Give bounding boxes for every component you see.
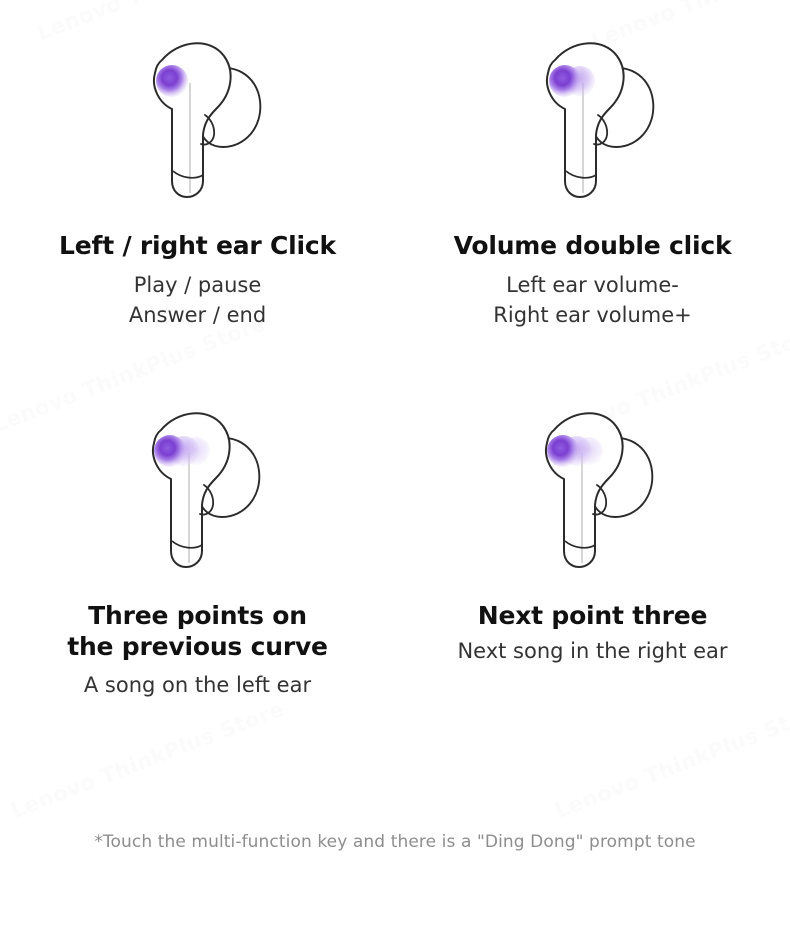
card-text-block: Volume double click Left ear volume- Rig… (395, 230, 790, 331)
touch-controls-page: Lenovo ThinkPlus Store Lenovo ThinkPlus … (0, 0, 790, 938)
earbud-icon (520, 23, 670, 208)
card-subtitle: A song on the left ear (0, 671, 395, 701)
earbud-single-tap-illustration (119, 0, 277, 230)
control-card-volume-double-click: Volume double click Left ear volume- Rig… (395, 0, 790, 370)
card-subtitle-line: Right ear volume+ (395, 301, 790, 331)
tap-dot (154, 435, 186, 467)
earbud-icon (519, 393, 669, 578)
card-subtitle: Left ear volume- Right ear volume+ (395, 271, 790, 331)
card-text-block: Three points on the previous curve A son… (0, 600, 395, 700)
card-title: Three points on the previous curve (0, 600, 395, 663)
card-subtitle: Next song in the right ear (395, 637, 790, 667)
earbud-triple-tap-illustration (517, 370, 669, 600)
card-title: Volume double click (395, 230, 790, 261)
card-subtitle: Play / pause Answer / end (0, 271, 395, 331)
earbud-icon (126, 393, 276, 578)
earbud-icon (127, 23, 277, 208)
card-subtitle-line: Answer / end (0, 301, 395, 331)
card-subtitle-line: Left ear volume- (395, 271, 790, 301)
card-subtitle-line: Play / pause (0, 271, 395, 301)
card-title: Left / right ear Click (0, 230, 395, 261)
control-card-next-point-three: Next point three Next song in the right … (395, 370, 790, 738)
earbud-triple-tap-illustration (120, 370, 276, 600)
card-title-line: the previous curve (0, 631, 395, 662)
card-subtitle-line: Next song in the right ear (395, 637, 790, 667)
card-text-block: Left / right ear Click Play / pause Answ… (0, 230, 395, 331)
card-subtitle-line: A song on the left ear (0, 671, 395, 701)
control-card-left-right-ear-click: Left / right ear Click Play / pause Answ… (0, 0, 395, 370)
footnote: *Touch the multi-function key and there … (0, 832, 790, 852)
tap-dot (547, 435, 579, 467)
card-text-block: Next point three Next song in the right … (395, 600, 790, 667)
tap-dot (156, 65, 188, 97)
earbud-double-tap-illustration (516, 0, 670, 230)
card-title-line: Three points on (0, 600, 395, 631)
control-cards-grid: Left / right ear Click Play / pause Answ… (0, 0, 790, 738)
tap-dot (549, 65, 581, 97)
card-title: Next point three (395, 600, 790, 631)
control-card-three-points-previous: Three points on the previous curve A son… (0, 370, 395, 738)
